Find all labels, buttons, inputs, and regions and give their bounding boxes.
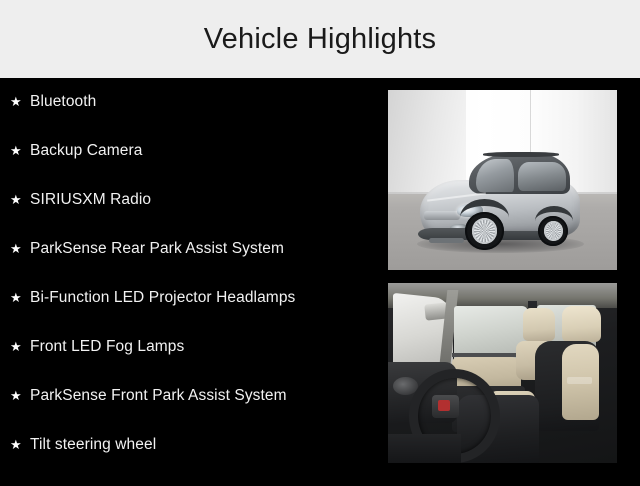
skid-plate (429, 238, 464, 243)
list-item: ★ Tilt steering wheel (0, 437, 388, 486)
cabin-scene (388, 283, 617, 463)
page-title: Vehicle Highlights (204, 25, 437, 54)
list-item: ★ Front LED Fog Lamps (0, 339, 388, 388)
list-item: ★ ParkSense Rear Park Assist System (0, 241, 388, 290)
vehicle-exterior-photo (388, 90, 617, 270)
steering-wheel-badge-icon (438, 400, 449, 411)
feature-label: Bi-Function LED Projector Headlamps (30, 290, 295, 306)
passenger-headrest (562, 306, 601, 342)
list-item: ★ Bluetooth (0, 94, 388, 143)
vehicle-interior-photo (388, 283, 617, 463)
star-icon: ★ (10, 340, 30, 353)
slide-body: ★ Bluetooth ★ Backup Camera ★ SIRIUSXM R… (0, 78, 640, 480)
suv-vehicle (413, 149, 587, 250)
star-icon: ★ (10, 389, 30, 402)
feature-label: SIRIUSXM Radio (30, 192, 151, 208)
star-icon: ★ (10, 242, 30, 255)
star-icon: ★ (10, 193, 30, 206)
front-wheel (465, 212, 503, 250)
feature-label: ParkSense Front Park Assist System (30, 388, 287, 404)
front-grille (424, 211, 461, 220)
star-icon: ★ (10, 438, 30, 451)
slide-header: Vehicle Highlights (0, 0, 640, 78)
cabin-floor (388, 434, 461, 463)
feature-label: Bluetooth (30, 94, 96, 110)
feature-label: Backup Camera (30, 143, 142, 159)
rear-headrest (523, 308, 555, 340)
star-icon: ★ (10, 144, 30, 157)
rear-wheel (538, 216, 568, 246)
list-item: ★ ParkSense Front Park Assist System (0, 388, 388, 437)
feature-label: ParkSense Rear Park Assist System (30, 241, 284, 257)
vehicle-feature-list: ★ Bluetooth ★ Backup Camera ★ SIRIUSXM R… (0, 78, 388, 480)
feature-label: Tilt steering wheel (30, 437, 156, 453)
list-item: ★ Backup Camera (0, 143, 388, 192)
star-icon: ★ (10, 291, 30, 304)
seat-embroidery-logo-icon (567, 377, 592, 384)
studio-backdrop (388, 90, 617, 270)
list-item: ★ SIRIUSXM Radio (0, 192, 388, 241)
feature-label: Front LED Fog Lamps (30, 339, 184, 355)
vehicle-highlights-slide: Vehicle Highlights ★ Bluetooth ★ Backup … (0, 0, 640, 480)
list-item: ★ Bi-Function LED Projector Headlamps (0, 290, 388, 339)
side-window-glass (518, 162, 567, 191)
star-icon: ★ (10, 95, 30, 108)
